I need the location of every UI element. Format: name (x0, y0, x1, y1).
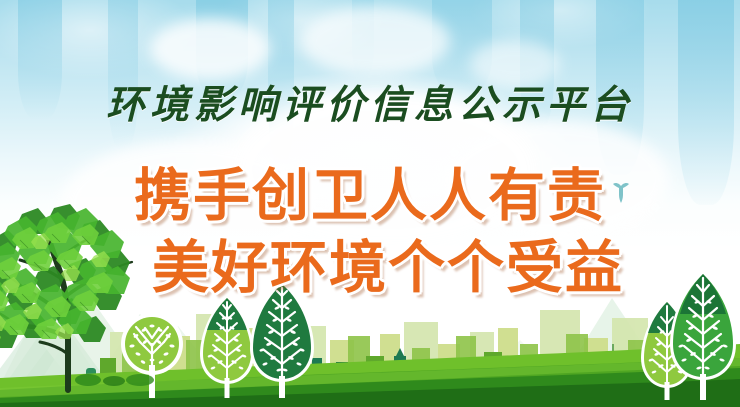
cloud-blob (300, 6, 450, 76)
cloud-blob (150, 18, 270, 80)
slogan-line-2: 美好环境个个受益 (0, 222, 740, 304)
page-title: 环境影响评价信息公示平台 (0, 74, 740, 130)
environmental-banner: 环境影响评价信息公示平台 携手创卫人人有责 美好环境个个受益 (0, 0, 740, 407)
slogan-line-1: 携手创卫人人有责 (0, 150, 740, 232)
shrubs (74, 362, 164, 386)
